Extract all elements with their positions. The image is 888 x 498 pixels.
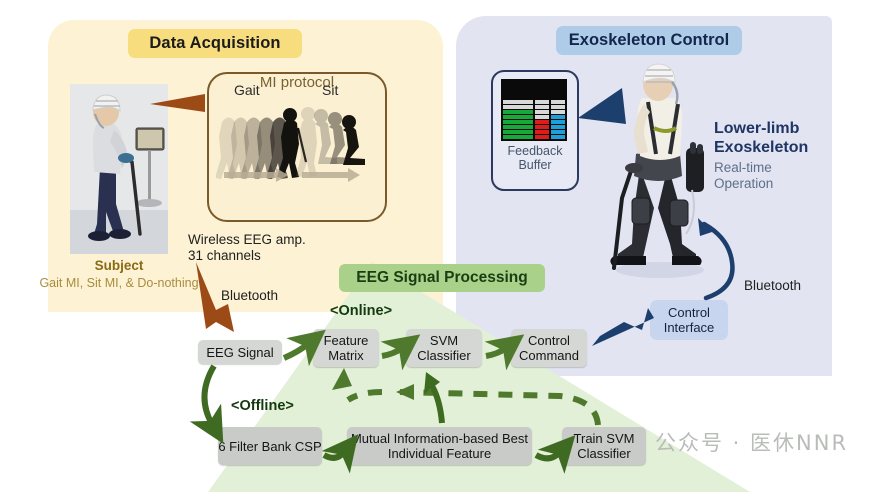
mi-gait-label: Gait xyxy=(234,82,260,98)
subject-photo xyxy=(70,84,168,254)
box-filter-bank-csp[interactable]: 6 Filter Bank CSP xyxy=(218,427,322,465)
box-mutual-information[interactable]: Mutual Information-based Best Individual… xyxy=(347,427,532,465)
title-data-acquisition: Data Acquisition xyxy=(128,29,302,58)
subject-conditions: Gait MI, Sit MI, & Do-nothing xyxy=(36,276,202,291)
annotation-bluetooth-right: Bluetooth xyxy=(744,278,801,294)
feedback-buffer-label: Feedback Buffer xyxy=(493,144,577,172)
box-eeg-signal[interactable]: EEG Signal xyxy=(198,340,282,364)
tag-online: <Online> xyxy=(330,303,392,319)
annotation-bluetooth-left: Bluetooth xyxy=(221,288,278,304)
watermark: 公众号 · 医休NNR xyxy=(655,427,848,457)
tag-offline: <Offline> xyxy=(231,398,294,414)
mi-protocol-illustration xyxy=(216,102,378,188)
box-control-interface[interactable]: Control Interface xyxy=(650,300,728,340)
feedback-buffer-screen xyxy=(501,79,567,141)
box-svm-classifier[interactable]: SVM Classifier xyxy=(406,329,482,367)
mi-sit-label: Sit xyxy=(322,82,338,98)
annotation-wireless-eeg: Wireless EEG amp. 31 channels xyxy=(188,232,306,264)
box-train-svm-classifier[interactable]: Train SVM Classifier xyxy=(562,427,646,465)
box-control-command[interactable]: Control Command xyxy=(511,329,587,367)
subject-label: Subject xyxy=(56,258,182,273)
title-exoskeleton-control: Exoskeleton Control xyxy=(556,26,742,55)
box-feature-matrix[interactable]: Feature Matrix xyxy=(313,329,379,367)
feedback-buffer-card: Feedback Buffer xyxy=(491,70,579,191)
title-eeg-signal-processing: EEG Signal Processing xyxy=(339,264,545,292)
exoskeleton-photo xyxy=(596,58,722,286)
lower-limb-exoskeleton-subtitle: Real-time Operation xyxy=(714,160,832,192)
lower-limb-exoskeleton-title: Lower-limb Exoskeleton xyxy=(714,119,832,157)
diagram-canvas: Data Acquisition Exoskeleton Control EEG… xyxy=(0,0,888,498)
mi-protocol-card: Gait Sit xyxy=(207,72,387,222)
